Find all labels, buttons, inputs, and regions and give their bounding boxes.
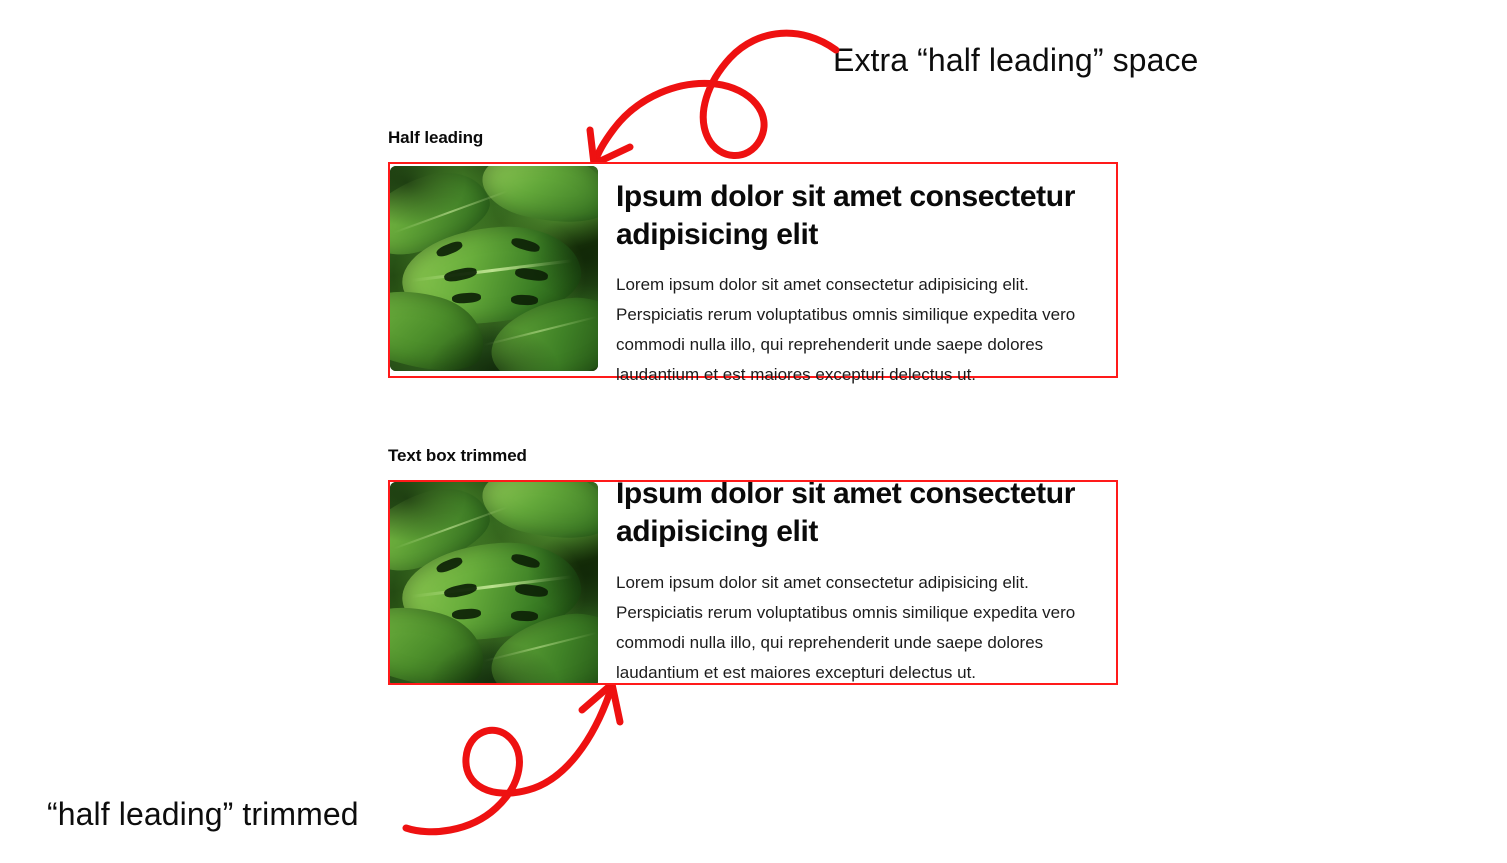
card-text-half-leading: Lorem ipsum dolor sit amet consectetur a… bbox=[616, 270, 1102, 390]
annotation-top-label: Extra “half leading” space bbox=[833, 42, 1198, 79]
section-half-leading: Half leading bbox=[388, 128, 1118, 378]
card-image-text-box-trimmed bbox=[390, 482, 598, 685]
card-body-text-box-trimmed: Ipsum dolor sit amet consectetur adipisi… bbox=[598, 482, 1116, 685]
section-label-half-leading: Half leading bbox=[388, 128, 1118, 148]
illustration-canvas: Extra “half leading” space “half leading… bbox=[0, 0, 1507, 863]
section-text-box-trimmed: Text box trimmed bbox=[388, 446, 1118, 685]
card-body-half-leading: Ipsum dolor sit amet consectetur adipisi… bbox=[598, 164, 1116, 390]
monstera-leaves-photo bbox=[390, 166, 598, 371]
card-text-box-trimmed: Ipsum dolor sit amet consectetur adipisi… bbox=[388, 480, 1118, 685]
card-text-text-box-trimmed: Lorem ipsum dolor sit amet consectetur a… bbox=[616, 568, 1102, 685]
annotation-bottom-arrow-icon bbox=[404, 676, 654, 836]
card-title-half-leading: Ipsum dolor sit amet consectetur adipisi… bbox=[616, 178, 1102, 254]
section-label-text-box-trimmed: Text box trimmed bbox=[388, 446, 1118, 466]
card-title-text-box-trimmed: Ipsum dolor sit amet consectetur adipisi… bbox=[616, 480, 1102, 551]
card-half-leading: Ipsum dolor sit amet consectetur adipisi… bbox=[388, 162, 1118, 378]
card-image-half-leading bbox=[390, 166, 598, 371]
monstera-leaves-photo bbox=[390, 482, 598, 685]
annotation-bottom-label: “half leading” trimmed bbox=[47, 796, 359, 833]
